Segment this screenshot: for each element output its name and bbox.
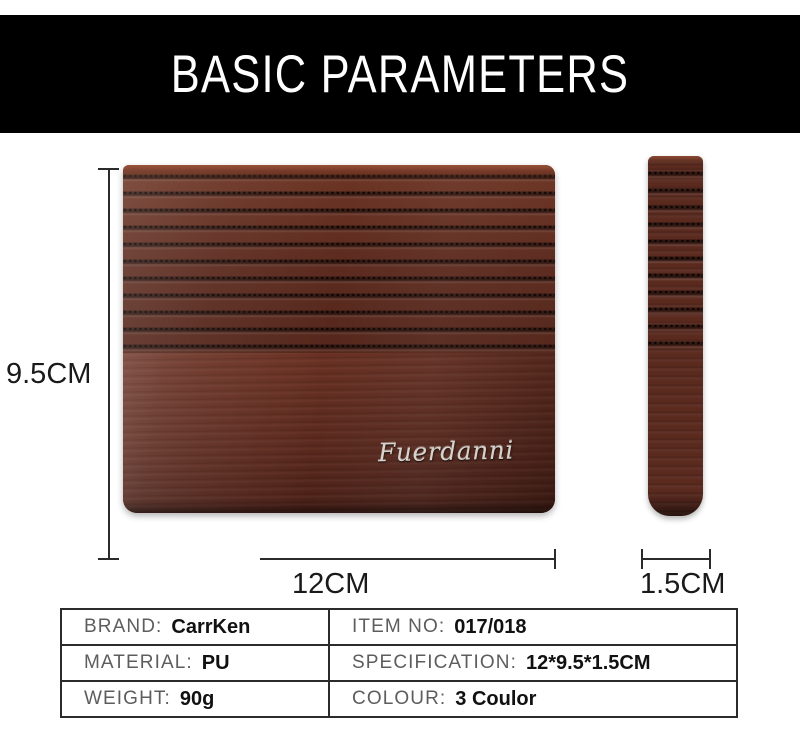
leather-sheen-highlight: [123, 165, 555, 513]
thickness-dimension-tick-left: [641, 549, 643, 569]
spec-value: PU: [202, 652, 230, 675]
header-banner: BASIC PARAMETERS: [0, 15, 800, 133]
spec-cell-brand: BRAND: CarrKen: [62, 610, 330, 644]
side-bottom-edge: [648, 490, 703, 516]
height-dimension-tick-bottom: [98, 558, 119, 560]
spec-cell-colour: COLOUR: 3 Coulor: [330, 682, 736, 716]
spec-value: 12*9.5*1.5CM: [526, 652, 651, 675]
spec-value: CarrKen: [171, 616, 250, 639]
product-spec-page: BASIC PARAMETERS Fuerdanni 9.5CM: [0, 0, 800, 738]
spec-value: 90g: [180, 688, 214, 711]
width-dimension-tick-right: [554, 549, 556, 569]
thickness-dimension-label: 1.5CM: [640, 568, 725, 601]
spec-cell-specification: SPECIFICATION: 12*9.5*1.5CM: [330, 646, 736, 680]
table-row: WEIGHT: 90g COLOUR: 3 Coulor: [62, 682, 736, 716]
wallet-top-edge: [123, 165, 555, 179]
spec-key: MATERIAL:: [84, 652, 193, 674]
spec-key: COLOUR:: [352, 688, 446, 710]
product-image-area: Fuerdanni: [0, 133, 800, 603]
wallet-front-view: Fuerdanni: [123, 165, 555, 513]
height-dimension-tick-top: [98, 168, 119, 170]
spec-value: 017/018: [454, 616, 526, 639]
spec-value: 3 Coulor: [455, 688, 536, 711]
width-dimension-label: 12CM: [292, 568, 369, 601]
page-title: BASIC PARAMETERS: [72, 15, 728, 133]
height-dimension-label: 9.5CM: [6, 358, 91, 391]
spec-cell-material: MATERIAL: PU: [62, 646, 330, 680]
wallet-bottom-edge: [123, 497, 555, 513]
spec-key: WEIGHT:: [84, 688, 171, 710]
table-row: MATERIAL: PU SPECIFICATION: 12*9.5*1.5CM: [62, 646, 736, 682]
spec-key: ITEM NO:: [352, 616, 445, 638]
height-dimension-line: [108, 168, 110, 560]
spec-cell-weight: WEIGHT: 90g: [62, 682, 330, 716]
side-beaded-dot-rows: [648, 162, 703, 357]
width-dimension-line: [260, 558, 556, 560]
specification-table: BRAND: CarrKen ITEM NO: 017/018 MATERIAL…: [60, 608, 738, 718]
wallet-side-view: [648, 156, 703, 516]
spec-key: BRAND:: [84, 616, 162, 638]
thickness-dimension-tick-right: [709, 549, 711, 569]
spec-cell-item-no: ITEM NO: 017/018: [330, 610, 736, 644]
thickness-dimension-line: [641, 558, 711, 560]
spec-key: SPECIFICATION:: [352, 652, 517, 674]
side-top-edge: [648, 156, 703, 165]
table-row: BRAND: CarrKen ITEM NO: 017/018: [62, 610, 736, 646]
